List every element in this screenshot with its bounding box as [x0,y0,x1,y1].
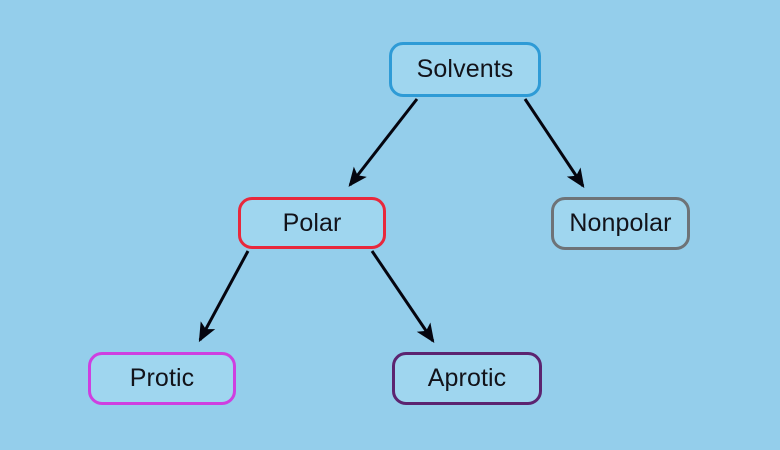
node-polar-label: Polar [283,211,342,236]
node-polar[interactable]: Polar [238,197,386,249]
edge-solvents-nonpolar [525,99,583,186]
node-aprotic-label: Aprotic [428,366,507,391]
diagram-canvas: Solvents Polar Nonpolar Protic Aprotic [0,0,780,450]
node-solvents[interactable]: Solvents [389,42,541,97]
node-nonpolar[interactable]: Nonpolar [551,197,690,250]
edge-polar-aprotic [372,251,433,341]
edge-polar-protic [200,251,248,340]
node-protic-label: Protic [130,366,195,391]
node-solvents-label: Solvents [417,57,514,82]
edge-solvents-polar [350,99,417,185]
node-nonpolar-label: Nonpolar [569,211,671,236]
node-aprotic[interactable]: Aprotic [392,352,542,405]
node-protic[interactable]: Protic [88,352,236,405]
